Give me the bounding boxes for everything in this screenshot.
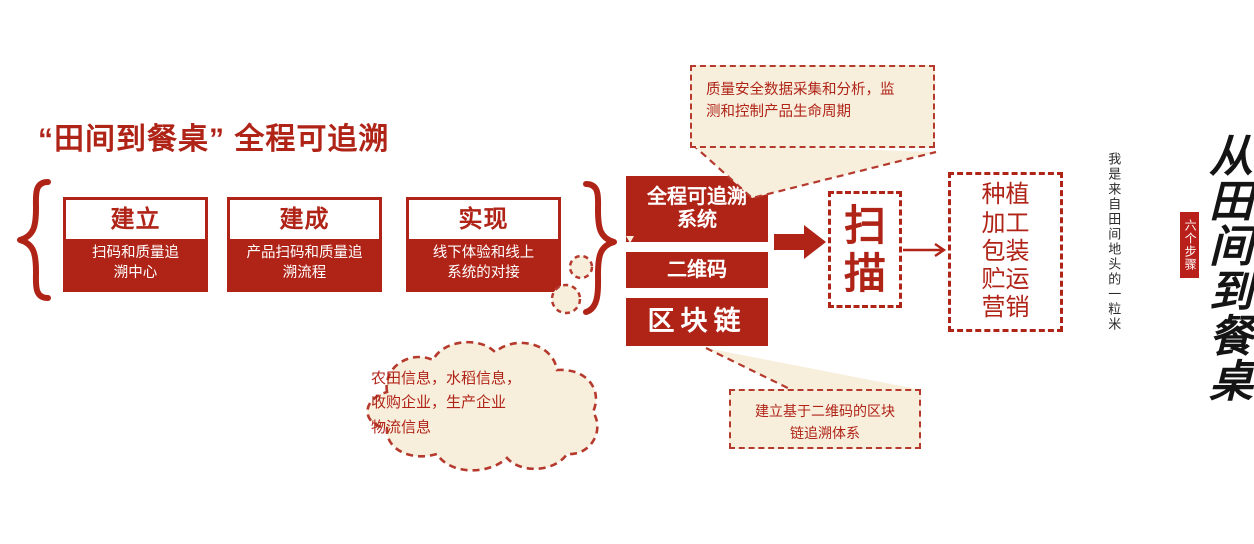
stage-body: 扫码和质量追 溯中心	[66, 239, 205, 289]
scan-line1: 扫	[844, 202, 886, 249]
stage-body: 线下体验和线上 系统的对接	[409, 239, 558, 289]
small-marker-icon	[622, 232, 638, 248]
seal-stamp: 六个步骤	[1180, 212, 1199, 278]
stage-heading: 建立	[66, 200, 205, 239]
stage-body: 产品扫码和质量追 溯流程	[230, 239, 379, 289]
process-item: 种植	[982, 181, 1030, 209]
stack-system-line2: 系统	[677, 209, 717, 231]
stage-body-line1: 扫码和质量追	[92, 245, 179, 261]
calligraphy-side-text: 我是来自田间地头的一粒米	[1104, 152, 1120, 332]
page-title: “田间到餐桌” 全程可追溯	[38, 114, 389, 158]
process-item: 贮运	[982, 266, 1030, 294]
stage-body-line2: 溯流程	[283, 265, 327, 281]
cloud-line-2: 收购企业，生产企业	[371, 391, 571, 415]
stack-box-qrcode[interactable]: 二维码	[626, 252, 768, 288]
callout-top: 质量安全数据采集和分析，监 测和控制产品生命周期	[690, 65, 935, 148]
arrow-right-thick-icon	[774, 222, 828, 264]
calligraphy-main-text: 从田间到餐桌	[1152, 133, 1248, 403]
stage-box-realize[interactable]: 实现 线下体验和线上 系统的对接	[406, 197, 561, 292]
stage-box-complete[interactable]: 建成 产品扫码和质量追 溯流程	[227, 197, 382, 292]
callout-top-line1: 质量安全数据采集和分析，监	[706, 79, 919, 101]
left-brace-icon	[14, 178, 54, 302]
process-item: 加工	[982, 210, 1030, 238]
stage-heading: 建成	[230, 200, 379, 239]
stage-heading: 实现	[409, 200, 558, 239]
callout-bottom: 建立基于二维码的区块 链追溯体系	[729, 389, 921, 449]
diagram-canvas: “田间到餐桌” 全程可追溯 建立 扫码和质量追 溯中心 建成 产品扫码和质量追 …	[0, 0, 1254, 544]
callout-bottom-line2: 链追溯体系	[743, 423, 907, 445]
cloud-line-3: 物流信息	[371, 416, 571, 440]
stage-body-line1: 产品扫码和质量追	[247, 245, 363, 261]
stack-box-blockchain[interactable]: 区块链	[626, 298, 768, 346]
stage-box-establish[interactable]: 建立 扫码和质量追 溯中心	[63, 197, 208, 292]
stage-body-line2: 溯中心	[114, 265, 158, 281]
cloud-bubble-trail-icon	[548, 252, 596, 320]
cloud-text: 农田信息，水稻信息， 收购企业，生产企业 物流信息	[371, 367, 571, 440]
stage-body-line1: 线下体验和线上	[433, 245, 535, 261]
process-item: 营销	[982, 294, 1030, 322]
scan-line2: 描	[844, 250, 886, 297]
callout-top-line2: 测和控制产品生命周期	[706, 101, 919, 123]
stage-body-line2: 系统的对接	[447, 265, 520, 281]
process-box[interactable]: 种植 加工 包装 贮运 营销	[948, 172, 1063, 332]
scan-box[interactable]: 扫 描	[828, 191, 902, 308]
cloud-line-1: 农田信息，水稻信息，	[371, 367, 571, 391]
process-item: 包装	[982, 238, 1030, 266]
arrow-right-thin-icon	[903, 240, 951, 260]
callout-bottom-line1: 建立基于二维码的区块	[743, 401, 907, 423]
